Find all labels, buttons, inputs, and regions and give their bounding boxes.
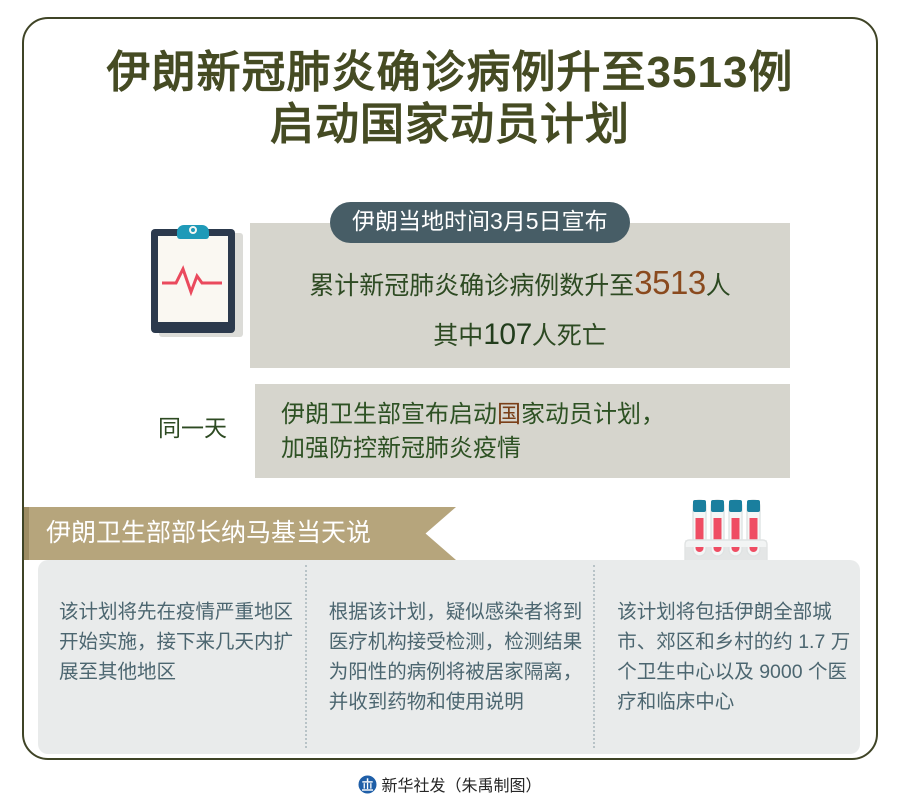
death-toll-line: 其中107人死亡 [250, 320, 790, 351]
detail-column-1: 该计划将先在疫情严重地区开始实施，接下来几天内扩展至其他地区 [38, 560, 305, 687]
death-toll-number: 107 [483, 318, 532, 351]
announcement-date-badge: 伊朗当地时间3月5日宣布 [330, 202, 630, 243]
confirmed-cases-line: 累计新冠肺炎确诊病例数升至3513人 [250, 268, 790, 301]
detail-column-2: 根据该计划，疑似感染者将到医疗机构接受检测，检测结果为阳性的病例将被居家隔离，并… [307, 560, 594, 717]
title-line-1: 伊朗新冠肺炎确诊病例升至3513例 [22, 47, 878, 99]
detail-column-3: 该计划将包括伊朗全部城市、郊区和乡村的约 1.7 万个卫生中心以及 9000 个… [595, 560, 860, 717]
xinhua-logo-icon [358, 775, 377, 794]
death-toll-suffix: 人死亡 [532, 322, 607, 350]
detail-column-3-text: 该计划将包括伊朗全部城市、郊区和乡村的约 1.7 万个卫生中心以及 9000 个… [617, 597, 852, 717]
infographic-canvas: 伊朗新冠肺炎确诊病例升至3513例 启动国家动员计划 伊朗当地时间3月5日宣布 … [0, 0, 900, 810]
mobilization-panel [255, 384, 790, 478]
ecg-line-icon [158, 259, 228, 299]
mobilization-suffix: 家动员计划， [521, 401, 665, 428]
minister-quote-banner-label: 伊朗卫生部部长纳马基当天说 [46, 517, 371, 549]
confirmed-cases-number: 3513 [634, 264, 705, 301]
death-toll-prefix: 其中 [433, 322, 483, 350]
footer-credit-text: 新华社发（朱禹制图） [381, 778, 541, 795]
clipboard-clip-hole [189, 226, 197, 234]
detail-column-1-text: 该计划将先在疫情严重地区开始实施，接下来几天内扩展至其他地区 [59, 597, 295, 687]
details-columns: 该计划将先在疫情严重地区开始实施，接下来几天内扩展至其他地区 根据该计划，疑似感… [38, 560, 860, 754]
title-line-2: 启动国家动员计划 [22, 99, 878, 151]
same-day-label: 同一天 [158, 414, 227, 442]
mobilization-highlight: 国 [497, 401, 521, 428]
clipboard-ecg-icon [151, 225, 239, 333]
ribbon-notch-tail [369, 507, 456, 560]
mobilization-line-1: 伊朗卫生部宣布启动国家动员计划， [281, 400, 665, 429]
footer-credit: 新华社发（朱禹制图） [0, 772, 900, 796]
mobilization-prefix: 伊朗卫生部宣布启动 [281, 401, 497, 428]
mobilization-line-2: 加强防控新冠肺炎疫情 [281, 434, 521, 463]
confirmed-cases-prefix: 累计新冠肺炎确诊病例数升至 [309, 272, 634, 300]
detail-column-2-text: 根据该计划，疑似感染者将到医疗机构接受检测，检测结果为阳性的病例将被居家隔离，并… [329, 597, 584, 717]
test-tube-rack-icon [681, 496, 771, 566]
confirmed-cases-suffix: 人 [706, 272, 731, 300]
page-title: 伊朗新冠肺炎确诊病例升至3513例 启动国家动员计划 [22, 47, 878, 151]
